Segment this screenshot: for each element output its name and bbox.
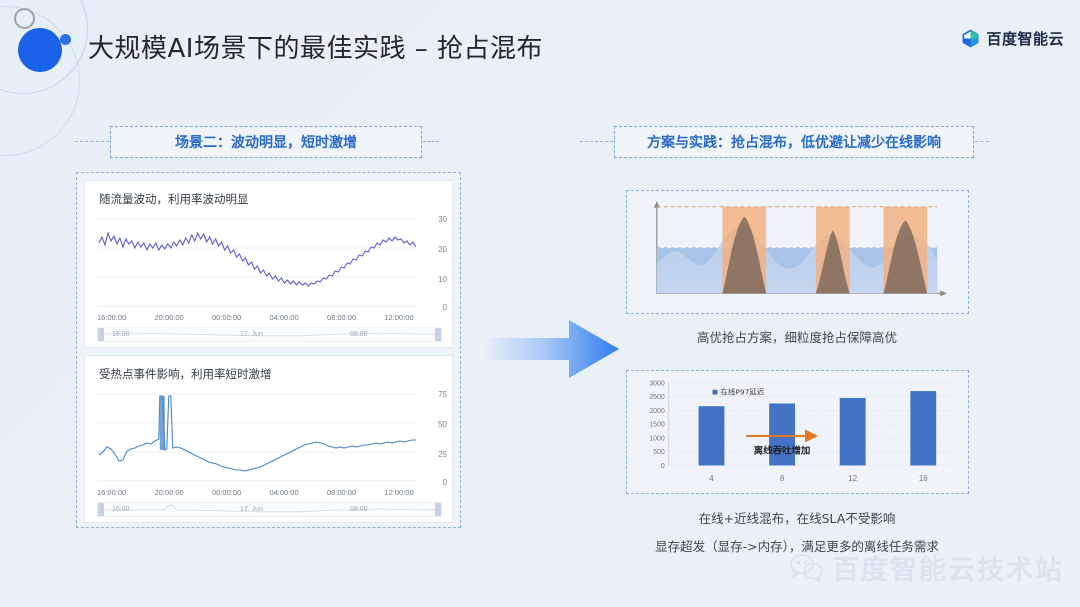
y-tick-label: 20: [438, 245, 447, 254]
svg-text:3000: 3000: [649, 380, 665, 387]
svg-text:2500: 2500: [649, 394, 665, 401]
svg-text:12: 12: [848, 474, 857, 483]
x-tick-label: 00:00:00: [212, 313, 269, 322]
line-chart-plot-area: [97, 392, 416, 484]
navigator-handle-left[interactable]: [98, 503, 104, 516]
svg-text:4: 4: [709, 474, 714, 483]
navigator-handle-right[interactable]: [435, 328, 441, 341]
svg-text:8: 8: [780, 474, 785, 483]
decorative-ring-icon: [14, 8, 35, 29]
section-header-left: 场景二：波动明显，短时激增: [110, 126, 422, 158]
x-axis-labels: 16:00:00 20:00:00 00:00:00 04:00:00 08:0…: [97, 313, 442, 322]
y-tick-label: 50: [438, 420, 447, 429]
preemption-area-chart: [627, 191, 968, 313]
right-header-tick-start: [580, 141, 613, 142]
y-tick-label: 10: [438, 275, 447, 284]
left-header-tick-end: [423, 141, 439, 142]
chart-card-utilization-spike: 受热点事件影响，利用率短时激增 75 50 25 0 16:00:00 20:0…: [84, 355, 453, 523]
baidu-cloud-logo-icon: [961, 29, 980, 48]
line-chart-plot-area: [97, 217, 416, 309]
preemption-scheme-diagram-panel: [626, 190, 969, 314]
wechat-icon: [790, 553, 824, 583]
x-tick-label: 08:00:00: [327, 313, 384, 322]
diagram-caption-bottom-1: 在线+近线混布，在线SLA不受影响: [597, 508, 997, 527]
watermark-text: 百度智能云技术站: [832, 548, 1064, 587]
navigator-label: 08:00: [350, 331, 368, 338]
left-charts-panel: 随流量波动，利用率波动明显 30 20 10 0 16:00:00 20:00:…: [76, 172, 461, 528]
navigator-label: 16:00: [112, 506, 130, 513]
chart-title: 受热点事件影响，利用率短时激增: [99, 366, 272, 382]
x-axis-labels: 16:00:00 20:00:00 00:00:00 04:00:00 08:0…: [97, 488, 442, 497]
x-tick-label: 20:00:00: [154, 313, 211, 322]
decorative-circle-small: [60, 34, 71, 45]
y-tick-label: 30: [438, 215, 447, 224]
throughput-bar-chart-panel: 3000 2500 2000 1500 1000 500 0 4 8 12 16…: [626, 370, 969, 494]
right-header-tick-end: [975, 141, 989, 142]
page-title: 大规模AI场景下的最佳实践 – 抢占混布: [88, 28, 543, 65]
chart-navigator-scrollbar[interactable]: 16:00 17. Jun 08:00: [97, 502, 442, 517]
navigator-label: 16:00: [112, 331, 130, 338]
svg-text:1000: 1000: [649, 435, 665, 442]
legend-swatch: [712, 390, 717, 395]
section-header-right: 方案与实践：抢占混布，低优避让减少在线影响: [614, 126, 974, 158]
legend-label: 在线P97延迟: [720, 387, 764, 397]
y-tick-label: 0: [443, 303, 447, 312]
x-tick-label: 08:00:00: [327, 488, 384, 497]
y-tick-label: 75: [438, 390, 447, 399]
brand-name: 百度智能云: [986, 28, 1064, 49]
x-tick-label: 12:00:00: [384, 313, 441, 322]
chart-title: 随流量波动，利用率波动明显: [99, 191, 249, 207]
y-tick-label: 25: [438, 450, 447, 459]
chart-navigator-scrollbar[interactable]: 16:00 17. Jun 08:00: [97, 327, 442, 342]
diagram-caption-top: 高优抢占方案，细粒度抢占保障高优: [597, 327, 997, 346]
x-tick-label: 00:00:00: [212, 488, 269, 497]
svg-text:1500: 1500: [649, 422, 665, 429]
svg-text:2000: 2000: [649, 408, 665, 415]
left-header-tick-start: [75, 141, 109, 142]
x-tick-label: 16:00:00: [97, 313, 154, 322]
navigator-label: 17. Jun: [240, 331, 263, 338]
bar: [699, 406, 725, 465]
x-tick-label: 16:00:00: [97, 488, 154, 497]
bar-chart-annotation: 离线吞吐增加: [754, 445, 811, 457]
chart-card-utilization-fluctuation: 随流量波动，利用率波动明显 30 20 10 0 16:00:00 20:00:…: [84, 180, 453, 348]
decorative-arc-inner: [0, 6, 80, 156]
svg-text:16: 16: [919, 474, 928, 483]
decorative-circle-large: [18, 28, 62, 72]
navigator-handle-right[interactable]: [435, 503, 441, 516]
bar: [840, 398, 866, 465]
y-tick-label: 0: [443, 478, 447, 487]
x-tick-label: 04:00:00: [269, 488, 326, 497]
x-tick-label: 12:00:00: [384, 488, 441, 497]
navigator-label: 17. Jun: [240, 506, 263, 513]
right-arrow-icon: [483, 316, 619, 382]
navigator-label: 08:00: [350, 506, 368, 513]
x-tick-label: 04:00:00: [269, 313, 326, 322]
svg-text:0: 0: [661, 463, 665, 470]
offline-throughput-bar-chart: 3000 2500 2000 1500 1000 500 0 4 8 12 16…: [627, 371, 968, 493]
decorative-arc-outer: [0, 0, 88, 94]
watermark: 百度智能云技术站: [790, 548, 1064, 587]
navigator-handle-left[interactable]: [98, 328, 104, 341]
flow-arrow: [483, 316, 619, 382]
brand-logo: 百度智能云: [961, 28, 1064, 49]
bar: [910, 391, 936, 465]
x-tick-label: 20:00:00: [154, 488, 211, 497]
svg-text:500: 500: [653, 449, 665, 456]
